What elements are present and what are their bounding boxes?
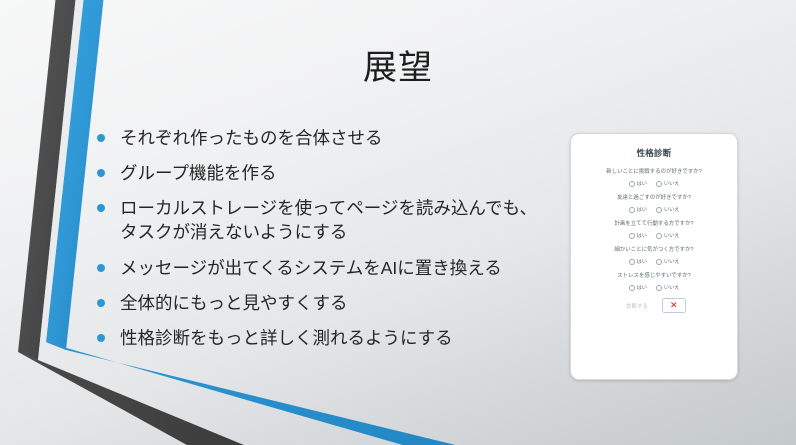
radio-option-label: はい	[637, 258, 647, 265]
radio-option-no[interactable]: いいえ	[656, 232, 680, 239]
list-item-label: グループ機能を作る	[120, 161, 562, 185]
question-label: 新しいことに挑戦するのが好きですか?	[579, 168, 729, 176]
quiz-question-3: 計画を立てて行動する方ですか? はい いいえ	[579, 220, 729, 239]
radio-option-yes[interactable]: はい	[629, 206, 647, 213]
radio-option-label: はい	[637, 180, 647, 187]
list-item: メッセージが出てくるシステムをAIに置き換える	[92, 256, 562, 280]
question-label: 細かいことに気がつく方ですか?	[579, 246, 729, 254]
list-item-label: 全体的にもっと見やすくする	[120, 291, 562, 315]
close-icon[interactable]: ✕	[662, 298, 686, 313]
radio-circle-icon[interactable]	[629, 207, 635, 213]
radio-circle-icon[interactable]	[656, 285, 662, 291]
radio-option-label: はい	[637, 284, 647, 291]
radio-option-label: いいえ	[664, 232, 680, 239]
radio-circle-icon[interactable]	[656, 259, 662, 265]
list-item: 全体的にもっと見やすくする	[92, 291, 562, 315]
quiz-actions: 診断する ✕	[579, 298, 729, 313]
quiz-question-5: ストレスを感じやすいですか? はい いいえ	[579, 272, 729, 291]
submit-diagnosis-button[interactable]: 診断する	[622, 300, 652, 312]
bullet-dot-icon	[97, 264, 105, 272]
bullet-dot-icon	[97, 169, 105, 177]
radio-circle-icon[interactable]	[629, 181, 635, 187]
list-item-label: それぞれ作ったものを合体させる	[120, 126, 562, 150]
radio-option-yes[interactable]: はい	[629, 284, 647, 291]
bullet-list: それぞれ作ったものを合体させる グループ機能を作る ローカルストレージを使ってペ…	[92, 126, 562, 361]
answer-options: はい いいえ	[579, 232, 729, 239]
question-label: 友達と過ごすのが好きですか?	[579, 194, 729, 202]
bullet-dot-icon	[97, 204, 105, 212]
personality-quiz-panel: 性格診断 新しいことに挑戦するのが好きですか? はい いいえ 友達と過ごすのが好…	[571, 134, 737, 319]
radio-option-label: はい	[637, 206, 647, 213]
radio-circle-icon[interactable]	[629, 233, 635, 239]
radio-option-label: はい	[637, 232, 647, 239]
radio-option-no[interactable]: いいえ	[656, 284, 680, 291]
list-item: グループ機能を作る	[92, 161, 562, 185]
bullet-dot-icon	[97, 134, 105, 142]
radio-option-label: いいえ	[664, 206, 680, 213]
list-item: それぞれ作ったものを合体させる	[92, 126, 562, 150]
list-item-label: メッセージが出てくるシステムをAIに置き換える	[120, 256, 562, 280]
radio-option-yes[interactable]: はい	[629, 232, 647, 239]
list-item: ローカルストレージを使ってページを読み込んでも、 タスクが消えないようにする	[92, 196, 562, 244]
bullet-dot-icon	[97, 334, 105, 342]
radio-option-label: いいえ	[664, 284, 680, 291]
answer-options: はい いいえ	[579, 180, 729, 187]
answer-options: はい いいえ	[579, 206, 729, 213]
quiz-question-4: 細かいことに気がつく方ですか? はい いいえ	[579, 246, 729, 265]
question-label: ストレスを感じやすいですか?	[579, 272, 729, 280]
radio-circle-icon[interactable]	[629, 285, 635, 291]
radio-circle-icon[interactable]	[656, 181, 662, 187]
radio-option-no[interactable]: いいえ	[656, 180, 680, 187]
app-screenshot-image: 性格診断 新しいことに挑戦するのが好きですか? はい いいえ 友達と過ごすのが好…	[570, 133, 738, 380]
radio-option-yes[interactable]: はい	[629, 180, 647, 187]
radio-circle-icon[interactable]	[656, 207, 662, 213]
quiz-title: 性格診断	[579, 147, 729, 159]
list-item: 性格診断をもっと詳しく測れるようにする	[92, 326, 562, 350]
list-item-label: 性格診断をもっと詳しく測れるようにする	[120, 326, 562, 350]
quiz-question-1: 新しいことに挑戦するのが好きですか? はい いいえ	[579, 168, 729, 187]
radio-option-no[interactable]: いいえ	[656, 206, 680, 213]
list-item-label: ローカルストレージを使ってページを読み込んでも、 タスクが消えないようにする	[120, 196, 562, 244]
bullet-dot-icon	[97, 299, 105, 307]
quiz-question-2: 友達と過ごすのが好きですか? はい いいえ	[579, 194, 729, 213]
radio-option-label: いいえ	[664, 258, 680, 265]
answer-options: はい いいえ	[579, 258, 729, 265]
page-title: 展望	[0, 48, 796, 88]
answer-options: はい いいえ	[579, 284, 729, 291]
radio-option-yes[interactable]: はい	[629, 258, 647, 265]
radio-option-label: いいえ	[664, 180, 680, 187]
radio-circle-icon[interactable]	[629, 259, 635, 265]
radio-circle-icon[interactable]	[656, 233, 662, 239]
question-label: 計画を立てて行動する方ですか?	[579, 220, 729, 228]
presentation-slide: 展望 それぞれ作ったものを合体させる グループ機能を作る ローカルストレージを使…	[0, 0, 796, 445]
stripe-dark-diagonal	[18, 352, 256, 445]
radio-option-no[interactable]: いいえ	[656, 258, 680, 265]
